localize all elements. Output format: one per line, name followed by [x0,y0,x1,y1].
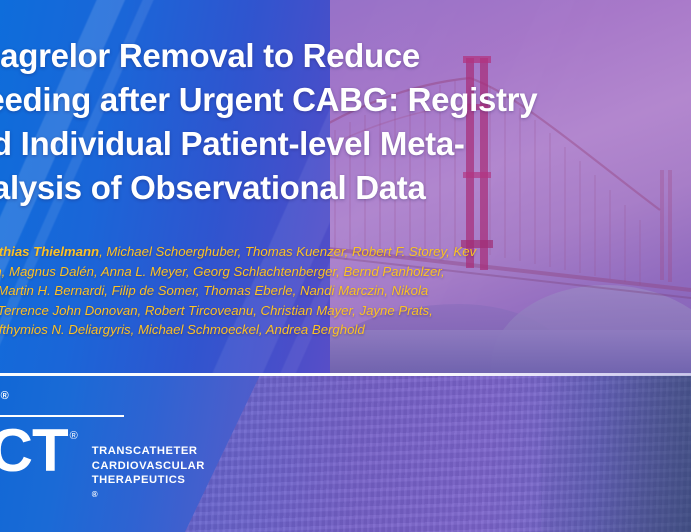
author-line-4: ve, Terrence John Donovan, Robert Tircov… [0,301,691,321]
tct-wordmark: TCT [0,422,68,480]
title-line-2: Bleeding after Urgent CABG: Registry [0,78,691,122]
title-line-4: analysis of Observational Data [0,166,691,210]
author-line-3: ch, Martin H. Bernardi, Filip de Somer, … [0,281,691,301]
title-line-1: Ticagrelor Removal to Reduce [0,34,691,78]
presenting-author: Matthias Thielmann [0,244,99,259]
tct-row: TCT ® TRANSCATHETER CARDIOVASCULAR THERA… [0,422,205,502]
tagline-registered-mark: ® [92,488,205,503]
tct-tagline: TRANSCATHETER CARDIOVASCULAR THERAPEUTIC… [92,444,205,502]
horizontal-divider [0,373,691,376]
author-line-1: Matthias Thielmann, Michael Schoerghuber… [0,242,691,262]
presentation-title: Ticagrelor Removal to Reduce Bleeding af… [0,34,691,210]
tagline-line-3-text: THERAPEUTICS [92,474,186,486]
water-shadow [541,375,691,532]
title-line-3: and Individual Patient-level Meta- [0,122,691,166]
author-list: Matthias Thielmann, Michael Schoerghuber… [0,242,691,340]
logo-mark: CRF® TCT ® TRANSCATHETER CARDIOVASCULAR … [0,386,205,502]
conference-slide: Ticagrelor Removal to Reduce Bleeding af… [0,0,691,532]
author-line-1-rest: , Michael Schoerghuber, Thomas Kuenzer, … [99,244,476,259]
tct-registered-mark: ® [70,430,78,442]
author-line-2: man, Magnus Dalén, Anna L. Meyer, Georg … [0,262,691,282]
author-line-5: lt, Efthymios N. Deliargyris, Michael Sc… [0,320,691,340]
tagline-line-1: TRANSCATHETER [92,444,205,459]
crf-registered-mark: ® [1,390,10,402]
crf-wordmark: CRF® [0,386,205,411]
crf-tct-logo: CRF® TCT ® TRANSCATHETER CARDIOVASCULAR … [0,386,205,502]
tagline-line-2: CARDIOVASCULAR [92,459,205,474]
tagline-line-3: THERAPEUTICS® [92,473,205,502]
